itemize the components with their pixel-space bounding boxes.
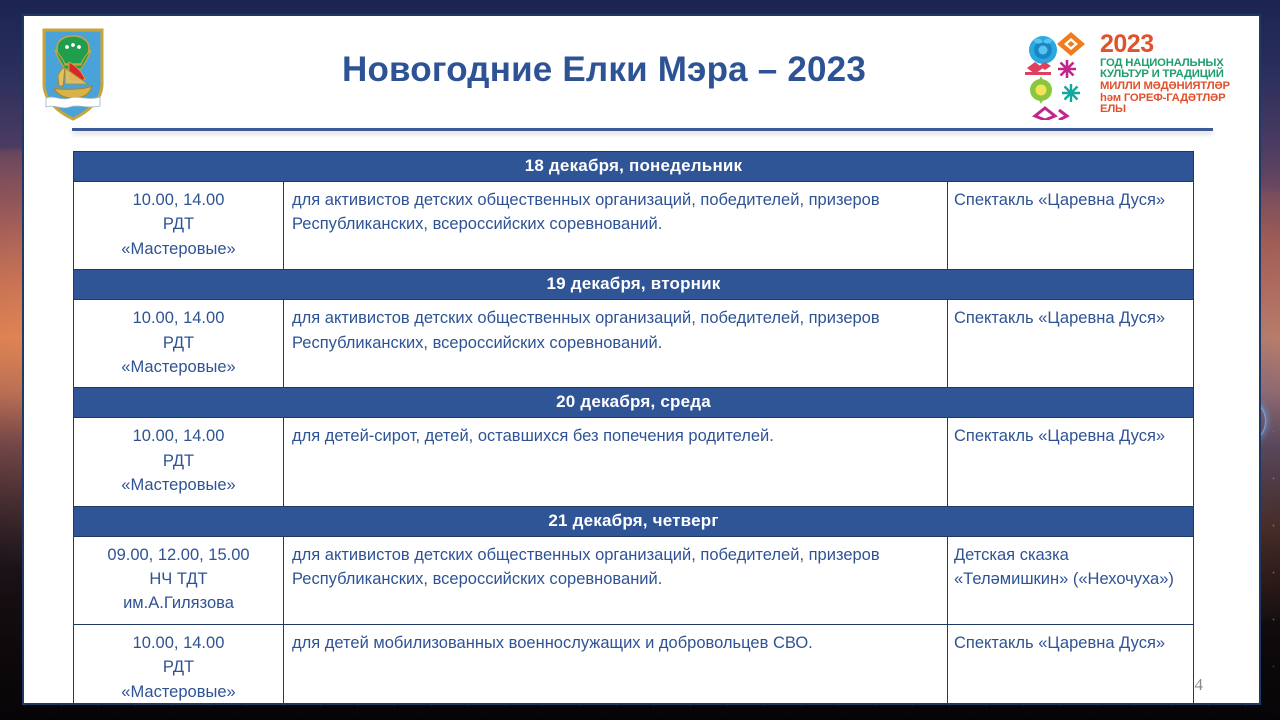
day-header-row: 20 декабря, среда xyxy=(74,388,1194,418)
table-row: 10.00, 14.00 РДТ «Мастеровые»для детей-с… xyxy=(74,418,1194,506)
day-header-label: 19 декабря, вторник xyxy=(74,270,1194,300)
schedule-table: 18 декабря, понедельник10.00, 14.00 РДТ … xyxy=(73,151,1194,705)
table-row: 10.00, 14.00 РДТ «Мастеровые»для детей м… xyxy=(74,624,1194,705)
cell-desc: для активистов детских общественных орга… xyxy=(284,182,948,270)
cell-time: 10.00, 14.00 РДТ «Мастеровые» xyxy=(74,624,284,705)
slide-header: Новогодние Елки Мэра – 2023 xyxy=(24,16,1259,128)
cell-show: Детская сказка «Теләмишкин» («Нехочуха») xyxy=(948,536,1194,624)
day-header-label: 20 декабря, среда xyxy=(74,388,1194,418)
slide-card: Новогодние Елки Мэра – 2023 xyxy=(22,14,1261,705)
cell-desc: для активистов детских общественных орга… xyxy=(284,536,948,624)
day-header-row: 21 декабря, четверг xyxy=(74,506,1194,536)
logo-year: 2023 xyxy=(1100,32,1249,58)
page-title: Новогодние Елки Мэра – 2023 xyxy=(174,50,1034,90)
cell-desc: для детей мобилизованных военнослужащих … xyxy=(284,624,948,705)
cell-time: 10.00, 14.00 РДТ «Мастеровые» xyxy=(74,182,284,270)
cell-show: Спектакль «Царевна Дуся» xyxy=(948,418,1194,506)
day-header-row: 18 декабря, понедельник xyxy=(74,152,1194,182)
cell-desc: для детей-сирот, детей, оставшихся без п… xyxy=(284,418,948,506)
cell-time: 10.00, 14.00 РДТ «Мастеровые» xyxy=(74,418,284,506)
cell-time: 10.00, 14.00 РДТ «Мастеровые» xyxy=(74,300,284,388)
schedule-table-container: 18 декабря, понедельник10.00, 14.00 РДТ … xyxy=(73,151,1193,705)
day-header-row: 19 декабря, вторник xyxy=(74,270,1194,300)
day-header-label: 21 декабря, четверг xyxy=(74,506,1194,536)
header-divider-rule xyxy=(72,128,1213,131)
logo-line-4: һәм ГОРЕФ-ГАДӘТЛӘР ЕЛЫ xyxy=(1100,93,1249,116)
cell-show: Спектакль «Царевна Дуся» xyxy=(948,182,1194,270)
cell-show: Спектакль «Царевна Дуся» xyxy=(948,624,1194,705)
cell-show: Спектакль «Царевна Дуся» xyxy=(948,300,1194,388)
year-of-cultures-logo: 2023 ГОД НАЦИОНАЛЬНЫХ КУЛЬТУР И ТРАДИЦИЙ… xyxy=(1021,22,1249,126)
year-logo-text-block: 2023 ГОД НАЦИОНАЛЬНЫХ КУЛЬТУР И ТРАДИЦИЙ… xyxy=(1100,32,1249,115)
logo-line-3: МИЛЛИ МӘДӘНИЯТЛӘР xyxy=(1100,81,1249,93)
page-number: 4 xyxy=(1195,675,1204,695)
day-header-label: 18 декабря, понедельник xyxy=(74,152,1194,182)
table-row: 09.00, 12.00, 15.00 НЧ ТДТ им.А.Гилязова… xyxy=(74,536,1194,624)
cell-time: 09.00, 12.00, 15.00 НЧ ТДТ им.А.Гилязова xyxy=(74,536,284,624)
table-row: 10.00, 14.00 РДТ «Мастеровые»для активис… xyxy=(74,182,1194,270)
cell-desc: для активистов детских общественных орга… xyxy=(284,300,948,388)
coat-of-arms-icon xyxy=(40,26,106,122)
table-row: 10.00, 14.00 РДТ «Мастеровые»для активис… xyxy=(74,300,1194,388)
ornament-icon xyxy=(1021,28,1095,120)
